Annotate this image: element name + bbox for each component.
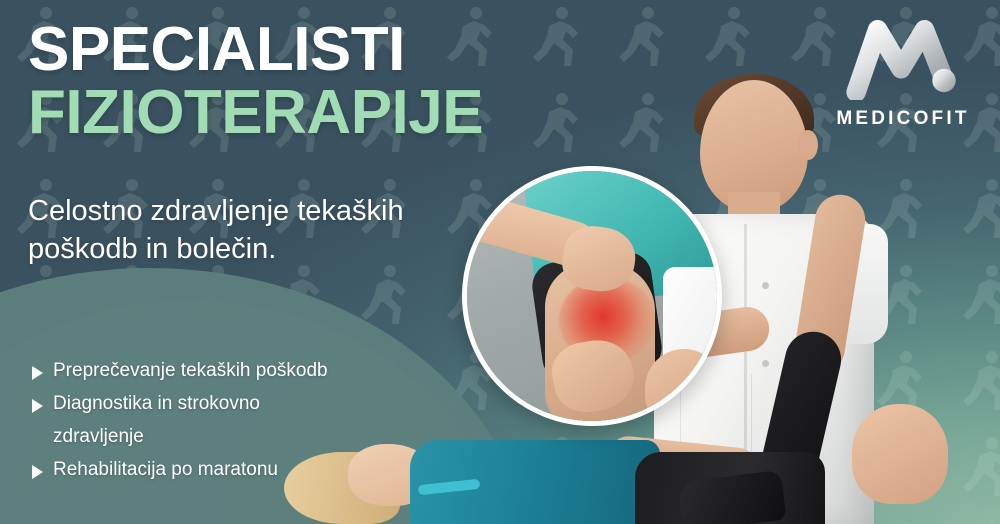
- benefit-label: Rehabilitacija po maratonu: [53, 457, 278, 482]
- benefit-item: Diagnostika in strokovno: [32, 391, 432, 416]
- knee-pain-inset-photo: [462, 166, 722, 426]
- promo-banner: SPECIALISTI FIZIOTERAPIJE Celostno zdrav…: [0, 0, 1000, 524]
- benefit-item: Rehabilitacija po maratonu: [32, 457, 432, 482]
- brand-logo: MEDICOFIT: [828, 18, 978, 130]
- benefit-item: Preprečevanje tekaških poškodb: [32, 358, 432, 383]
- benefit-item: zdravljenje: [32, 424, 432, 449]
- headline-line-1: SPECIALISTI: [28, 18, 483, 81]
- benefit-label: Diagnostika in strokovno: [53, 391, 260, 416]
- tunic-button: [762, 360, 769, 367]
- triangle-right-icon: [32, 399, 43, 413]
- headline-line-2: FIZIOTERAPIJE: [28, 81, 483, 144]
- bullet-spacer: [32, 432, 43, 446]
- brand-wordmark: MEDICOFIT: [828, 108, 978, 130]
- headline-block: SPECIALISTI FIZIOTERAPIJE: [28, 18, 483, 144]
- therapist-ear: [798, 130, 818, 160]
- benefit-label: Preprečevanje tekaških poškodb: [53, 358, 328, 383]
- patient-knee: [852, 404, 948, 504]
- benefit-label: zdravljenje: [53, 424, 144, 449]
- triangle-right-icon: [32, 465, 43, 479]
- medicofit-m-monogram-icon: [844, 18, 962, 100]
- benefits-list: Preprečevanje tekaških poškodbDiagnostik…: [32, 358, 432, 490]
- inset-second-knee: [645, 349, 722, 426]
- triangle-right-icon: [32, 366, 43, 380]
- subheading: Celostno zdravljenje tekaških poškodb in…: [28, 192, 498, 269]
- tunic-button: [762, 282, 769, 289]
